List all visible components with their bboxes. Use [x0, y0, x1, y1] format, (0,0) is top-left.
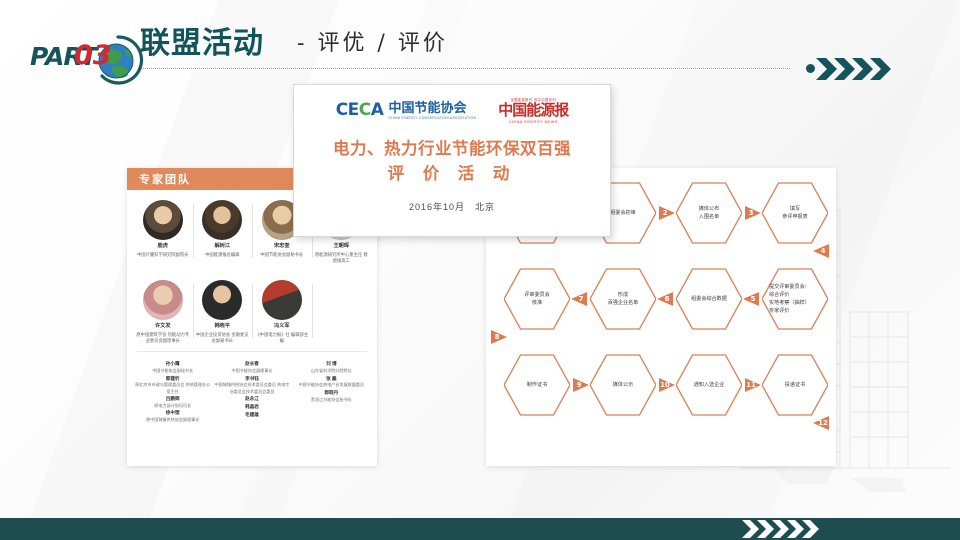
chevron-decoration-bottom	[742, 519, 832, 539]
energy-news-logo: 全国能源报刊 排名中国前列 中国能源报 CHINA ENERGY NEWS	[498, 97, 568, 124]
expert-name: 宋忠奎	[254, 243, 310, 251]
expert-name: 韩晓平	[195, 323, 251, 331]
ceca-name-en: CHINA ENERGY CONSERVATION ASSOCIATION	[388, 116, 476, 120]
avatar	[143, 200, 183, 240]
header-divider	[138, 68, 790, 69]
flow-step-hexagon[interactable]: 评审委员会核准	[504, 266, 570, 332]
flow-step-label: 制作证书	[504, 352, 570, 418]
expert-org: 原能源研究所中心重主任 教授级高工	[314, 252, 370, 264]
expert-org: 原北京市市政与管理委员会 供热管理办公室主任	[135, 382, 210, 395]
page-subtitle: - 评优 / 评价	[297, 25, 448, 57]
expert-org: 中国企业投资协会 金融委员会副秘书长	[195, 332, 251, 344]
part-badge: PART 03	[14, 18, 132, 64]
arrow-number: 10	[658, 376, 672, 394]
flow-step-line: 通知入选企业	[694, 381, 725, 389]
flow-step-line: 核准	[532, 299, 542, 307]
expert-cell: 许文发 原中国建筑学会 热能动力专业委员会副理事长	[133, 280, 193, 344]
flow-step-line: 参评申报表	[782, 213, 807, 221]
flow-step-hexagon[interactable]: 组委会综合数据	[676, 266, 742, 332]
expert-org: 原中国城镇供热协会副理事长	[135, 417, 210, 423]
expert-cell: 鹿虎 中国计量科学研究院副院长	[133, 200, 193, 264]
flow-step-line: 入围名单	[699, 213, 719, 221]
flow-step-line: 专家评价	[769, 307, 789, 315]
expert-cell: 韩晓平 中国企业投资协会 金融委员会副秘书长	[193, 280, 253, 344]
flow-step-label: 形成百强企业名单	[590, 266, 656, 332]
flow-step-line: 百强企业名单	[608, 299, 639, 307]
ceca-logo: CECA 中国节能协会 CHINA ENERGY CONSERVATION AS…	[336, 101, 477, 120]
flow-step-label: 填写参评申报表	[762, 180, 828, 246]
expert-cell: 解树江 中国能源报总编辑	[193, 200, 253, 264]
flow-step-hexagon[interactable]: 形成百强企业名单	[590, 266, 656, 332]
ceca-name-cn: 中国节能协会	[388, 101, 476, 115]
flow-step-line: 实地考察（抽样）	[769, 299, 810, 307]
flow-step-hexagon[interactable]: 填写参评申报表	[762, 180, 828, 246]
arrow-number: 9	[572, 376, 586, 394]
flow-step-label: 评审委员会核准	[504, 266, 570, 332]
flow-arrow: 3	[744, 204, 762, 222]
expert-org: 原中国建筑学会 热能动力专业委员会副理事长	[135, 332, 191, 344]
flow-step-line: 组委会综合数据	[691, 295, 727, 303]
flow-arrow: 7	[570, 290, 588, 308]
expert-org: 《中国电力报》社 编辑部主编	[254, 332, 310, 344]
page-title: 联盟活动	[140, 18, 264, 62]
ceca-wordmark: CECA	[336, 102, 384, 119]
flow-arrow: 10	[658, 376, 676, 394]
flow-step-line: 提交评审委员会:	[769, 283, 806, 291]
flow-arrow: 9	[572, 376, 590, 394]
expert-name: 韩晶岩	[214, 403, 289, 411]
flow-arrow: 4	[812, 242, 830, 260]
arrow-number: 6	[660, 290, 674, 308]
flow-arrow: 2	[658, 204, 676, 222]
expert-name: 解树江	[195, 243, 251, 251]
arrow-number: 5	[746, 290, 760, 308]
expert-org: 中国计量科学研究院副院长	[135, 252, 191, 258]
flow-step-line: 填写	[790, 205, 800, 213]
expert-name: 毛建雄	[214, 411, 289, 419]
expert-name: 吕鹏辉	[135, 395, 210, 403]
flow-arrow: 8	[490, 328, 508, 346]
slide-header: PART 03 联盟活动 - 评优 / 评价	[0, 0, 960, 72]
expert-org: 中国城镇供热协会技术委员会委员 热电专业委员会技术委员会委员	[214, 382, 289, 395]
slide-canvas: PART 03 联盟活动 - 评优 / 评价 专家团队 鹿虎	[0, 0, 960, 540]
flow-step-label: 媒体公示	[590, 352, 656, 418]
flow-step-line: 媒体公示	[613, 381, 633, 389]
arrow-number: 8	[490, 328, 504, 346]
arrow-number: 11	[744, 376, 758, 394]
divider-dot	[806, 64, 815, 73]
chevron-decoration-top	[816, 56, 906, 82]
flow-step-line: 综合评价	[769, 291, 789, 299]
flow-step-line: 制作证书	[527, 381, 547, 389]
event-title: 电力、热力行业节能环保双百强 评 价 活 动	[294, 137, 610, 188]
expert-org: 黑龙江节能协会秘书长	[294, 397, 369, 403]
part-number: 03	[74, 40, 112, 71]
flow-step-label: 提交评审委员会:综合评价实地考察（抽样）专家评价	[762, 266, 828, 332]
expert-name: 徐中塑	[135, 409, 210, 417]
event-card: CECA 中国节能协会 CHINA ENERGY CONSERVATION AS…	[293, 84, 611, 237]
flow-step-label: 组委会综合数据	[676, 266, 742, 332]
avatar	[143, 280, 183, 320]
avatar	[202, 280, 242, 320]
flow-step-hexagon[interactable]: 通知入选企业	[676, 352, 742, 418]
expert-name: 赵永江	[214, 395, 289, 403]
expert-org: 中国能源报总编辑	[195, 252, 251, 258]
event-title-line2: 评 价 活 动	[294, 162, 610, 188]
flow-step-hexagon[interactable]: 媒体公示	[590, 352, 656, 418]
expert-cell-empty	[312, 280, 372, 344]
flow-step-label: 媒体公布入围名单	[676, 180, 742, 246]
event-title-line1: 电力、热力行业节能环保双百强	[294, 137, 610, 163]
expert-row-2: 许文发 原中国建筑学会 热能动力专业委员会副理事长 韩晓平 中国企业投资协会 金…	[127, 270, 377, 344]
flow-step-hexagon[interactable]: 提交评审委员会:综合评价实地考察（抽样）专家评价	[762, 266, 828, 332]
event-date-place: 2016年10月 北京	[294, 200, 610, 213]
expert-cell: 冯义军 《中国电力报》社 编辑部主编	[252, 280, 312, 344]
name-list-column: 赵长春 中国节能协会副理事长 李书钰 中国城镇供热协会技术委员会委员 热电专业委…	[212, 360, 291, 423]
arrow-number: 4	[816, 242, 830, 260]
arrow-number: 12	[816, 414, 830, 432]
expert-name: 许文发	[135, 323, 191, 331]
flow-step-line: 投递证书	[785, 381, 805, 389]
flow-step-line: 媒体公布	[699, 205, 719, 213]
flow-arrow: 6	[656, 290, 674, 308]
flow-arrow: 12	[812, 414, 830, 432]
name-list-column: 孙小鹰 中国节能协会副秘书长 郭建忻 原北京市市政与管理委员会 供热管理办公室主…	[133, 360, 212, 423]
name-list-column: 刘 博 山东省科学院分院院长 张 磊 中国节能协会热电产业发展联盟委员 郭晓丹 …	[292, 360, 371, 423]
flow-step-hexagon[interactable]: 投递证书	[762, 352, 828, 418]
arrow-number: 3	[744, 204, 758, 222]
flow-step-line: 评审委员会	[524, 291, 549, 299]
expert-name-lists: 孙小鹰 中国节能协会副秘书长 郭建忻 原北京市市政与管理委员会 供热管理办公室主…	[127, 352, 377, 423]
arrow-number: 7	[574, 290, 588, 308]
arrow-number: 2	[658, 204, 672, 222]
flow-step-label: 投递证书	[762, 352, 828, 418]
expert-name: 冯义军	[254, 323, 310, 331]
flow-step-hexagon[interactable]: 制作证书	[504, 352, 570, 418]
energy-news-name-cn: 中国能源报	[498, 102, 568, 119]
flow-arrow: 11	[744, 376, 762, 394]
title-separator: -	[297, 31, 307, 56]
subtitle-text: 评优 / 评价	[317, 31, 447, 56]
expert-name: 王朝晖	[314, 243, 370, 251]
avatar	[202, 200, 242, 240]
flow-step-line: 形成	[618, 291, 628, 299]
expert-team-title: 专家团队	[139, 171, 191, 187]
flow-step-label: 通知入选企业	[676, 352, 742, 418]
expert-name: 郭晓丹	[294, 389, 369, 397]
flow-step-hexagon[interactable]: 媒体公布入围名单	[676, 180, 742, 246]
expert-name: 鹿虎	[135, 243, 191, 251]
flow-step-line: 组委会初审	[610, 209, 635, 217]
card-logos: CECA 中国节能协会 CHINA ENERGY CONSERVATION AS…	[294, 85, 610, 124]
energy-news-name-en: CHINA ENERGY NEWS	[498, 120, 568, 124]
flow-arrow: 5	[742, 290, 760, 308]
expert-org: 中国节能协会副秘书长	[254, 252, 310, 258]
avatar	[262, 280, 302, 320]
expert-org: 中国节能协会热电产业发展联盟委员	[294, 382, 369, 388]
